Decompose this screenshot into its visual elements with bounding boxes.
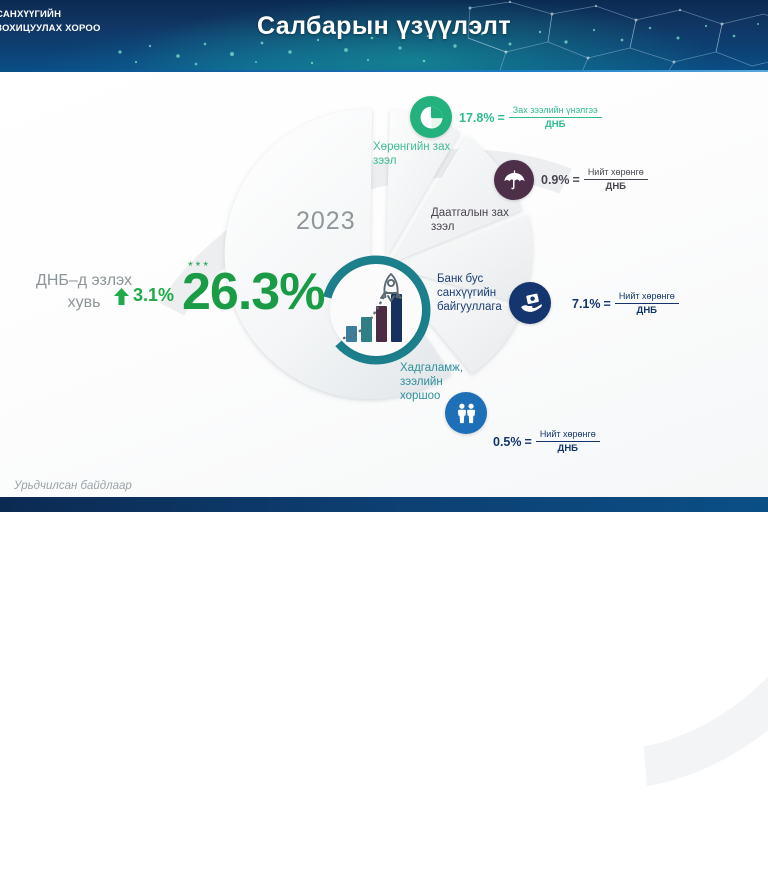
ratio-denominator: ДНБ	[558, 442, 578, 455]
two-people-glyph	[454, 401, 479, 426]
infographic-canvas: САНХҮҮГИЙН ЗОХИЦУУЛАХ ХОРОО Салбарын үзү…	[0, 0, 768, 512]
pie-chart-icon	[410, 96, 452, 138]
umbrella-icon	[494, 160, 534, 200]
page-header: САНХҮҮГИЙН ЗОХИЦУУЛАХ ХОРОО Салбарын үзү…	[0, 0, 768, 72]
arrow-up-icon	[114, 288, 129, 305]
ratio-numerator: Нийт хөрөнгө	[536, 428, 600, 441]
ratio-numerator: Зах зээлийн үнэлгээ	[509, 104, 602, 117]
footnote-preliminary: Урьдчилсан байдлаар	[14, 480, 132, 492]
ratio-numerator: Нийт хөрөнгө	[615, 290, 679, 303]
ratio-insurance-market: 0.9% = Нийт хөрөнгө ДНБ	[541, 166, 648, 193]
ratio-non-bank-financial: 7.1% = Нийт хөрөнгө ДНБ	[572, 290, 679, 317]
two-people-icon	[445, 392, 487, 434]
delta-percent-value: 3.1%	[133, 285, 174, 306]
ratio-value: 7.1%	[572, 297, 601, 311]
ratio-capital-market: 17.8% = Зах зээлийн үнэлгээ ДНБ	[459, 104, 602, 131]
headline-percent-value: 26.3%	[182, 262, 324, 322]
ratio-value: 0.5%	[493, 435, 522, 449]
rocket-growth-chart-icon	[340, 272, 414, 348]
umbrella-glyph	[503, 169, 526, 192]
ratio-numerator: Нийт хөрөнгө	[584, 166, 648, 179]
ratio-value: 0.9%	[541, 173, 570, 187]
footer-bar	[0, 497, 768, 512]
hand-money-glyph	[518, 291, 543, 316]
ratio-savings-coop: 0.5% = Нийт хөрөнгө ДНБ	[493, 428, 600, 455]
sector-label-insurance-market: Даатгалын зах зээл	[431, 206, 517, 234]
ratio-value: 17.8%	[459, 111, 494, 125]
sector-label-capital-market: Хөрөнгийн зах зээл	[373, 140, 459, 168]
hand-money-icon	[509, 282, 551, 324]
ratio-denominator: ДНБ	[545, 118, 565, 131]
year-label: 2023	[296, 207, 356, 236]
ratio-denominator: ДНБ	[606, 180, 626, 193]
ratio-denominator: ДНБ	[637, 304, 657, 317]
page-title: Салбарын үзүүлэлт	[0, 12, 768, 41]
pie-chart-glyph	[419, 105, 444, 130]
